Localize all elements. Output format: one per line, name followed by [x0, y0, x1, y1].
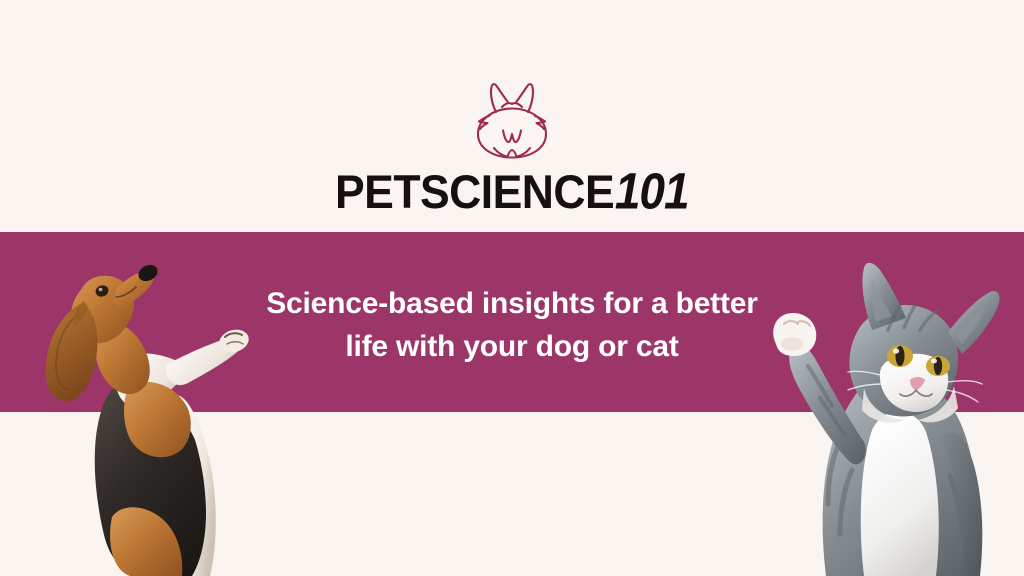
wordmark-suffix: 101: [615, 165, 689, 216]
wordmark-main: PETSCIENCE: [335, 169, 614, 216]
dog-photo: [26, 245, 256, 576]
brand-lockup: PETSCIENCE 101: [0, 78, 1024, 216]
cat-photo: [768, 260, 1016, 576]
pet-rear-line-art-icon: [466, 78, 558, 162]
wordmark: PETSCIENCE 101: [335, 170, 688, 216]
brand-banner: PETSCIENCE 101 Science-based insights fo…: [0, 0, 1024, 576]
